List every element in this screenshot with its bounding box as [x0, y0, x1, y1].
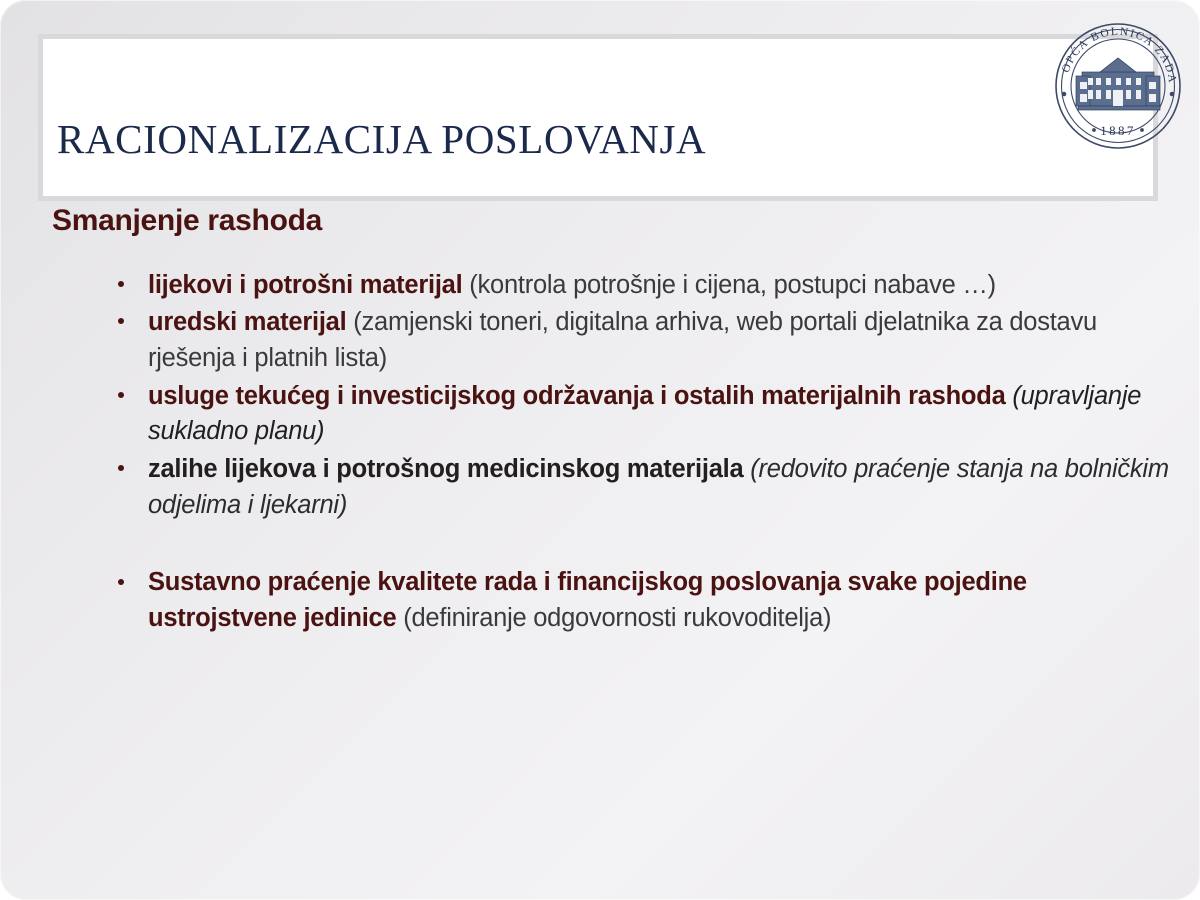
bullet-tail: (definiranje odgovornosti rukovoditelja)	[396, 604, 831, 632]
list-item: zalihe lijekova i potrošnog medicinskog …	[52, 452, 1177, 523]
list-item: lijekovi i potrošni materijal (kontrola …	[52, 268, 1177, 304]
title-box: RACIONALIZACIJA POSLOVANJA	[43, 39, 1153, 196]
bullet-dot-icon	[118, 318, 124, 324]
list-item: uredski materijal (zamjenski toneri, dig…	[52, 305, 1177, 376]
bullet-dot-icon	[118, 392, 124, 398]
seal-year: 1887	[1100, 123, 1136, 138]
bullet-dot-icon	[118, 465, 124, 471]
list-item: usluge tekućeg i investicijskog održavan…	[52, 379, 1177, 450]
section-heading: Smanjenje rashoda	[52, 202, 1177, 240]
bullet-tail: (kontrola potrošnje i cijena, postupci n…	[462, 271, 995, 299]
page-title: RACIONALIZACIJA POSLOVANJA	[57, 119, 706, 160]
bullet-dot-icon	[118, 579, 124, 585]
title-frame: RACIONALIZACIJA POSLOVANJA	[38, 34, 1158, 201]
bullet-lead: uredski materijal	[148, 308, 346, 336]
bullet-dot-icon	[118, 281, 124, 287]
opca-bolnica-zadar-seal-icon: OPĆA BOLNICA ZADAR 1887	[1048, 16, 1188, 156]
bullet-lead: lijekovi i potrošni materijal	[148, 271, 462, 299]
slide-canvas: RACIONALIZACIJA POSLOVANJA OPĆA BOLNICA …	[0, 0, 1200, 900]
bullet-lead: zalihe lijekova i potrošnog medicinskog …	[148, 455, 743, 483]
list-item: Sustavno praćenje kvalitete rada i finan…	[52, 565, 1177, 636]
bullet-list-primary: lijekovi i potrošni materijal (kontrola …	[52, 268, 1177, 524]
list-group-spacer	[52, 525, 1177, 565]
bullet-list-secondary: Sustavno praćenje kvalitete rada i finan…	[52, 565, 1177, 636]
slide-body: Smanjenje rashoda lijekovi i potrošni ma…	[52, 202, 1177, 639]
bullet-lead: usluge tekućeg i investicijskog održavan…	[148, 382, 1006, 410]
